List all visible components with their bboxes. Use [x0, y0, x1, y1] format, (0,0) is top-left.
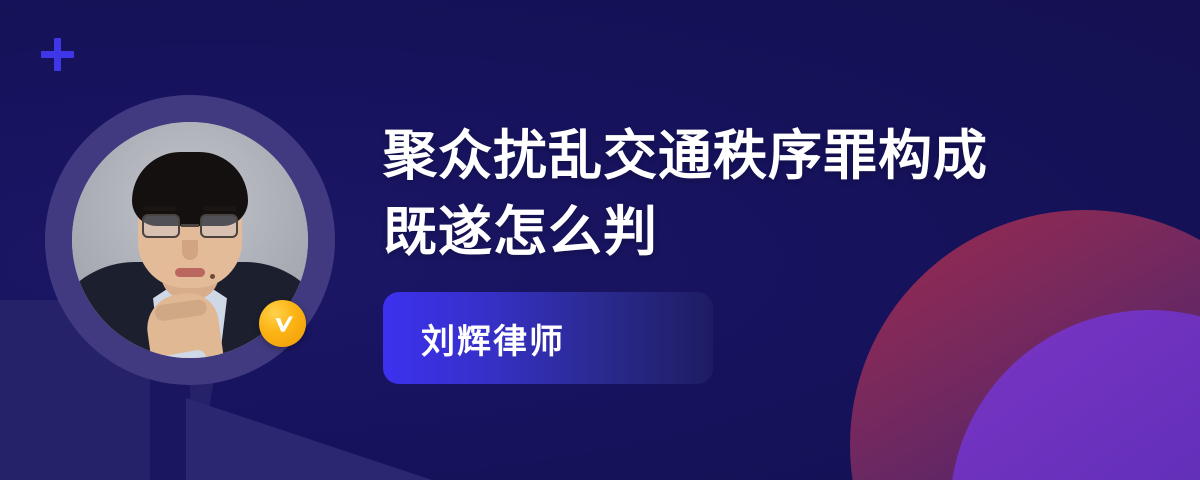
eyeglass-lens-right [200, 214, 238, 238]
portrait-mouth [175, 268, 205, 277]
video-cover-banner: 聚众扰乱交通秩序罪构成 既遂怎么判 刘辉律师 [0, 0, 1200, 480]
plus-icon [41, 38, 74, 71]
avatar [45, 95, 335, 385]
verified-badge-icon [259, 300, 306, 347]
portrait-mole [210, 274, 215, 279]
portrait-nose [182, 240, 198, 260]
lawyer-name-button[interactable]: 刘辉律师 [383, 292, 713, 384]
portrait-eyebrow-right [203, 206, 237, 211]
portrait-eyeglasses [142, 214, 238, 238]
portrait-eyebrow-left [143, 206, 177, 211]
eyeglass-lens-left [142, 214, 180, 238]
plus-icon-bar-vertical [54, 38, 61, 71]
eyeglass-bridge [181, 224, 199, 227]
cover-text-block: 聚众扰乱交通秩序罪构成 既遂怎么判 刘辉律师 [383, 118, 1123, 384]
page-title: 聚众扰乱交通秩序罪构成 既遂怎么判 [383, 118, 1123, 270]
